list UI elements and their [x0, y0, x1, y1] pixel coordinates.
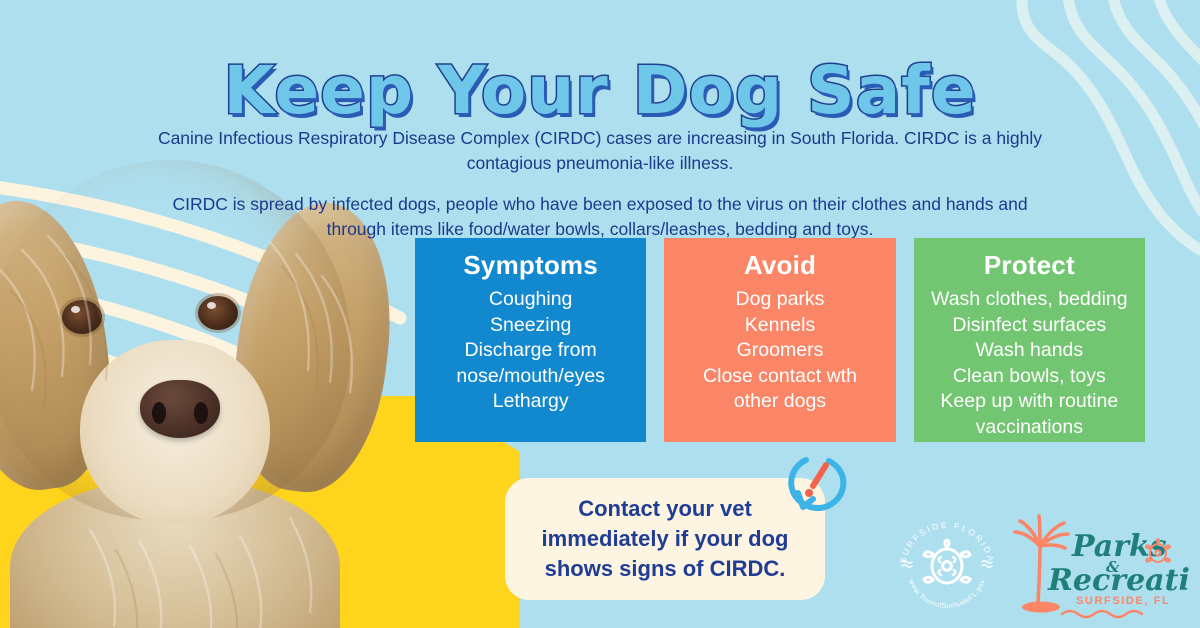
- list-item: Kennels: [703, 313, 857, 339]
- transmission-paragraph: CIRDC is spread by infected dogs, people…: [150, 192, 1050, 242]
- info-panels: Symptoms Coughing Sneezing Discharge fro…: [415, 238, 1145, 442]
- alert-exclamation-icon: [782, 452, 848, 518]
- list-item: Dog parks: [703, 287, 857, 313]
- list-item: Clean bowls, toys: [931, 364, 1128, 390]
- callout-line-2: immediately if your dog: [542, 524, 789, 554]
- list-item: Close contact wth: [703, 364, 857, 390]
- recreation-word: Recreation: [1047, 563, 1190, 598]
- list-item: other dogs: [703, 389, 857, 415]
- panel-avoid: Avoid Dog parks Kennels Groomers Close c…: [664, 238, 895, 442]
- panel-list-avoid: Dog parks Kennels Groomers Close contact…: [703, 287, 857, 415]
- panel-heading-avoid: Avoid: [744, 250, 816, 281]
- list-item: Discharge from: [456, 338, 605, 364]
- list-item: Keep up with routine: [931, 389, 1128, 415]
- callout-bubble: Contact your vet immediately if your dog…: [505, 478, 825, 600]
- callout-line-3: shows signs of CIRDC.: [542, 554, 789, 584]
- list-item: Wash clothes, bedding: [931, 287, 1128, 313]
- surfside-seal-logo: SURFSIDE FLORIDA www.TownofSurfsideFL.go…: [893, 512, 1001, 620]
- panel-list-protect: Wash clothes, bedding Disinfect surfaces…: [931, 287, 1128, 440]
- wave-lines: [1062, 611, 1142, 617]
- list-item: Groomers: [703, 338, 857, 364]
- location-text: SURFSIDE, FL: [1076, 595, 1170, 607]
- callout-text: Contact your vet immediately if your dog…: [542, 494, 789, 584]
- page-title: Keep Your Dog Safe: [0, 52, 1200, 129]
- panel-protect: Protect Wash clothes, bedding Disinfect …: [914, 238, 1145, 442]
- intro-paragraph: Canine Infectious Respiratory Disease Co…: [150, 126, 1050, 176]
- parks-recreation-logo: Parks & Recreation SURFSIDE, FL: [1010, 508, 1190, 620]
- panel-symptoms: Symptoms Coughing Sneezing Discharge fro…: [415, 238, 646, 442]
- callout-line-1: Contact your vet: [542, 494, 789, 524]
- list-item: Wash hands: [931, 338, 1128, 364]
- list-item: nose/mouth/eyes: [456, 364, 605, 390]
- poster-canvas: Keep Your Dog Safe Canine Infectious Res…: [0, 0, 1200, 628]
- turtle-icon: [924, 540, 970, 583]
- list-item: Disinfect surfaces: [931, 313, 1128, 339]
- panel-heading-symptoms: Symptoms: [463, 250, 598, 281]
- palm-base: [1022, 602, 1060, 613]
- list-item: vaccinations: [931, 415, 1128, 441]
- panel-heading-protect: Protect: [984, 250, 1075, 281]
- list-item: Lethargy: [456, 389, 605, 415]
- list-item: Sneezing: [456, 313, 605, 339]
- panel-list-symptoms: Coughing Sneezing Discharge from nose/mo…: [456, 287, 605, 415]
- list-item: Coughing: [456, 287, 605, 313]
- seal-top-text: SURFSIDE FLORIDA: [898, 520, 997, 564]
